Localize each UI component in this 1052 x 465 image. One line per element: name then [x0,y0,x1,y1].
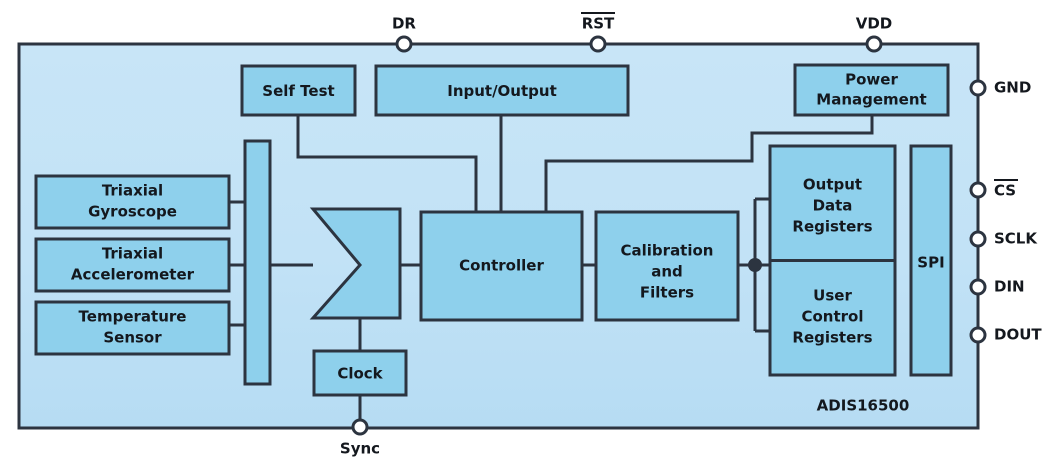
gyroscope-label-line2: Gyroscope [88,203,177,221]
calibration-label-line2: and [651,263,683,281]
pin-dout-label: DOUT [994,326,1042,344]
gyroscope-label-line1: Triaxial [102,182,163,200]
temperature-label-line2: Sensor [103,329,162,347]
pin-sclk-label: SCLK [994,230,1038,248]
block-power-management[interactable]: Power Management [795,65,948,115]
block-clock[interactable]: Clock [314,351,406,395]
pin-cs[interactable]: CS [971,180,1018,200]
block-triaxial-accelerometer[interactable]: Triaxial Accelerometer [36,239,229,291]
pin-din[interactable]: DIN [971,278,1025,296]
input-output-label: Input/Output [447,82,557,100]
block-temperature-sensor[interactable]: Temperature Sensor [36,302,229,354]
block-diagram-canvas: Self Test Input/Output Power Management … [0,0,1052,465]
self-test-label: Self Test [262,82,334,100]
pin-dr-label: DR [392,15,416,33]
block-output-data-registers[interactable]: Output Data Registers [770,146,895,260]
controller-label: Controller [459,257,544,275]
output-registers-label-line2: Data [813,197,853,215]
block-self-test[interactable]: Self Test [242,66,355,115]
block-user-control-registers[interactable]: User Control Registers [770,261,895,375]
block-spi[interactable]: SPI [911,146,951,375]
temperature-label-line1: Temperature [79,308,187,326]
pin-gnd-label: GND [994,79,1031,97]
pin-sync-label: Sync [340,440,380,458]
spi-label: SPI [917,254,944,272]
adis16500-block-diagram: Self Test Input/Output Power Management … [0,0,1052,465]
clock-label: Clock [337,365,383,383]
user-registers-label-line3: Registers [792,329,872,347]
junction-dot-registers [748,258,762,272]
pin-gnd[interactable]: GND [971,79,1031,97]
pin-vdd-label: VDD [856,15,893,33]
calibration-label-line3: Filters [640,284,694,302]
user-registers-label-line2: Control [801,308,863,326]
block-controller[interactable]: Controller [421,212,582,320]
output-registers-label-line1: Output [803,176,862,194]
pin-dout[interactable]: DOUT [971,326,1042,344]
power-management-label-line2: Management [816,91,926,109]
pin-din-label: DIN [994,278,1025,296]
accelerometer-label-line1: Triaxial [102,245,163,263]
block-sensor-bus [245,141,270,384]
accelerometer-label-line2: Accelerometer [71,266,195,284]
user-registers-label-line1: User [813,287,852,305]
block-input-output[interactable]: Input/Output [376,66,628,115]
pin-rst-label: RST [582,15,615,33]
block-calibration-filters[interactable]: Calibration and Filters [596,212,738,320]
block-triaxial-gyroscope[interactable]: Triaxial Gyroscope [36,176,229,228]
output-registers-label-line3: Registers [792,218,872,236]
pin-sclk[interactable]: SCLK [971,230,1038,248]
power-management-label-line1: Power [845,71,898,89]
pin-cs-label: CS [994,182,1016,200]
part-number-label: ADIS16500 [817,397,910,415]
calibration-label-line1: Calibration [621,242,714,260]
